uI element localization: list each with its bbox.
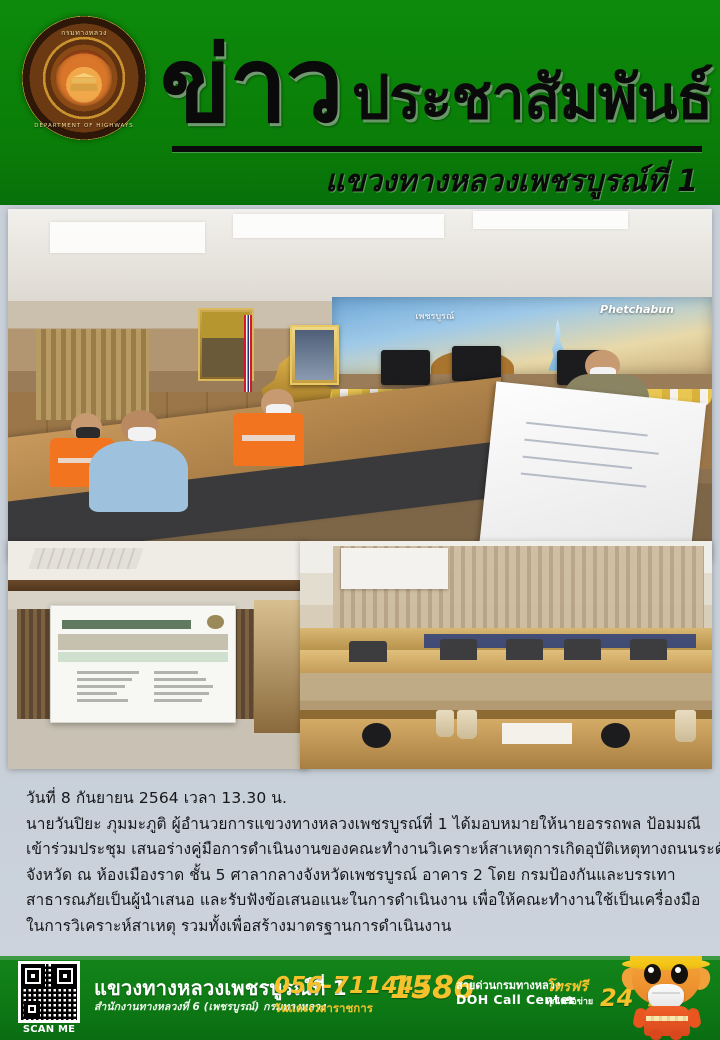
logo-ring-text-top: กรมทางหลวง [22, 28, 146, 39]
footer-phone-hours: วันและเวลาราชการ [274, 1000, 373, 1018]
chair [349, 641, 386, 662]
chair-back [381, 350, 430, 385]
highway-worker-mascot-icon [620, 956, 712, 1040]
drink-cup [675, 710, 696, 742]
printed-document [478, 381, 706, 561]
chair [506, 639, 543, 660]
news-poster: กรมทางหลวง DEPARTMENT OF HIGHWAYS ข่าว ป… [0, 0, 720, 1040]
curtain-left [17, 609, 50, 718]
drink-cup [457, 710, 478, 740]
backdrop-text-thai: เพชรบูรณ์ [415, 309, 454, 323]
header-office-name: แขวงทางหลวงเพชรบูรณ์ที่ 1 [325, 158, 698, 205]
news-paragraph-line: สาธารณภัยเป็นผู้นำเสนอ และรับฟังข้อเสนอแ… [26, 888, 694, 914]
scan-me-label: SCAN ME [18, 1024, 80, 1035]
news-paragraph-line: จังหวัด ณ ห้องเมืองราด ชั้น 5 ศาลากลางจั… [26, 863, 694, 889]
title-divider [172, 146, 702, 152]
news-paragraph-line: นายวันปิยะ ภุมมะภูติ ผู้อำนวยการแขวงทางห… [26, 812, 694, 838]
name-card [502, 723, 572, 744]
chair [564, 639, 601, 660]
poster-footer: SCAN ME แขวงทางหลวงเพชรบูรณ์ที่ 1 สำนักง… [0, 956, 720, 1040]
page-title: ข่าว [160, 38, 342, 134]
department-of-highways-logo-icon: กรมทางหลวง DEPARTMENT OF HIGHWAYS [22, 16, 146, 140]
projection-screen [50, 605, 236, 724]
backdrop-text-english: Phetchabun [600, 303, 674, 316]
projection-screen-background [341, 548, 448, 589]
microphone [362, 723, 391, 748]
window-curtain [36, 329, 149, 421]
microphone [601, 723, 630, 748]
photo-collage: เพชรบูรณ์ Phetchabun [0, 205, 720, 775]
wood-beam [8, 580, 308, 591]
photo-two-attendees [300, 541, 712, 769]
news-body: วันที่ 8 กันยายน 2564 เวลา 13.30 น. นายว… [0, 778, 720, 956]
chair [440, 639, 477, 660]
thai-flag [244, 315, 252, 392]
logo-ring-text-bottom: DEPARTMENT OF HIGHWAYS [22, 123, 146, 129]
header-title-block: ข่าว ประชาสัมพันธ์ แขวงทางหลวงเพชรบูรณ์ท… [160, 6, 708, 134]
ceiling-vent [29, 548, 144, 569]
qr-code[interactable] [18, 961, 80, 1023]
news-date-line: วันที่ 8 กันยายน 2564 เวลา 13.30 น. [26, 786, 694, 812]
news-paragraph-line: ในการวิเคราะห์สาเหตุ รวมทั้งเพื่อสร้างมา… [26, 914, 694, 940]
photo-meeting-room-main: เพชรบูรณ์ Phetchabun [8, 209, 712, 561]
footer-free-call-sub: ทุกเครือข่าย [546, 994, 593, 1008]
photo-presentation-screen [8, 541, 308, 769]
poster-header: กรมทางหลวง DEPARTMENT OF HIGHWAYS ข่าว ป… [0, 0, 720, 205]
king-portrait-easel [290, 325, 339, 385]
chair [630, 639, 667, 660]
ceiling [8, 209, 712, 301]
news-paragraph-line: เข้าร่วมประชุม เสนอร่างคู่มือการดำเนินงา… [26, 837, 694, 863]
page-subtitle: ประชาสัมพันธ์ [352, 68, 712, 134]
drink-cup [436, 710, 455, 737]
chair-back [452, 346, 501, 381]
